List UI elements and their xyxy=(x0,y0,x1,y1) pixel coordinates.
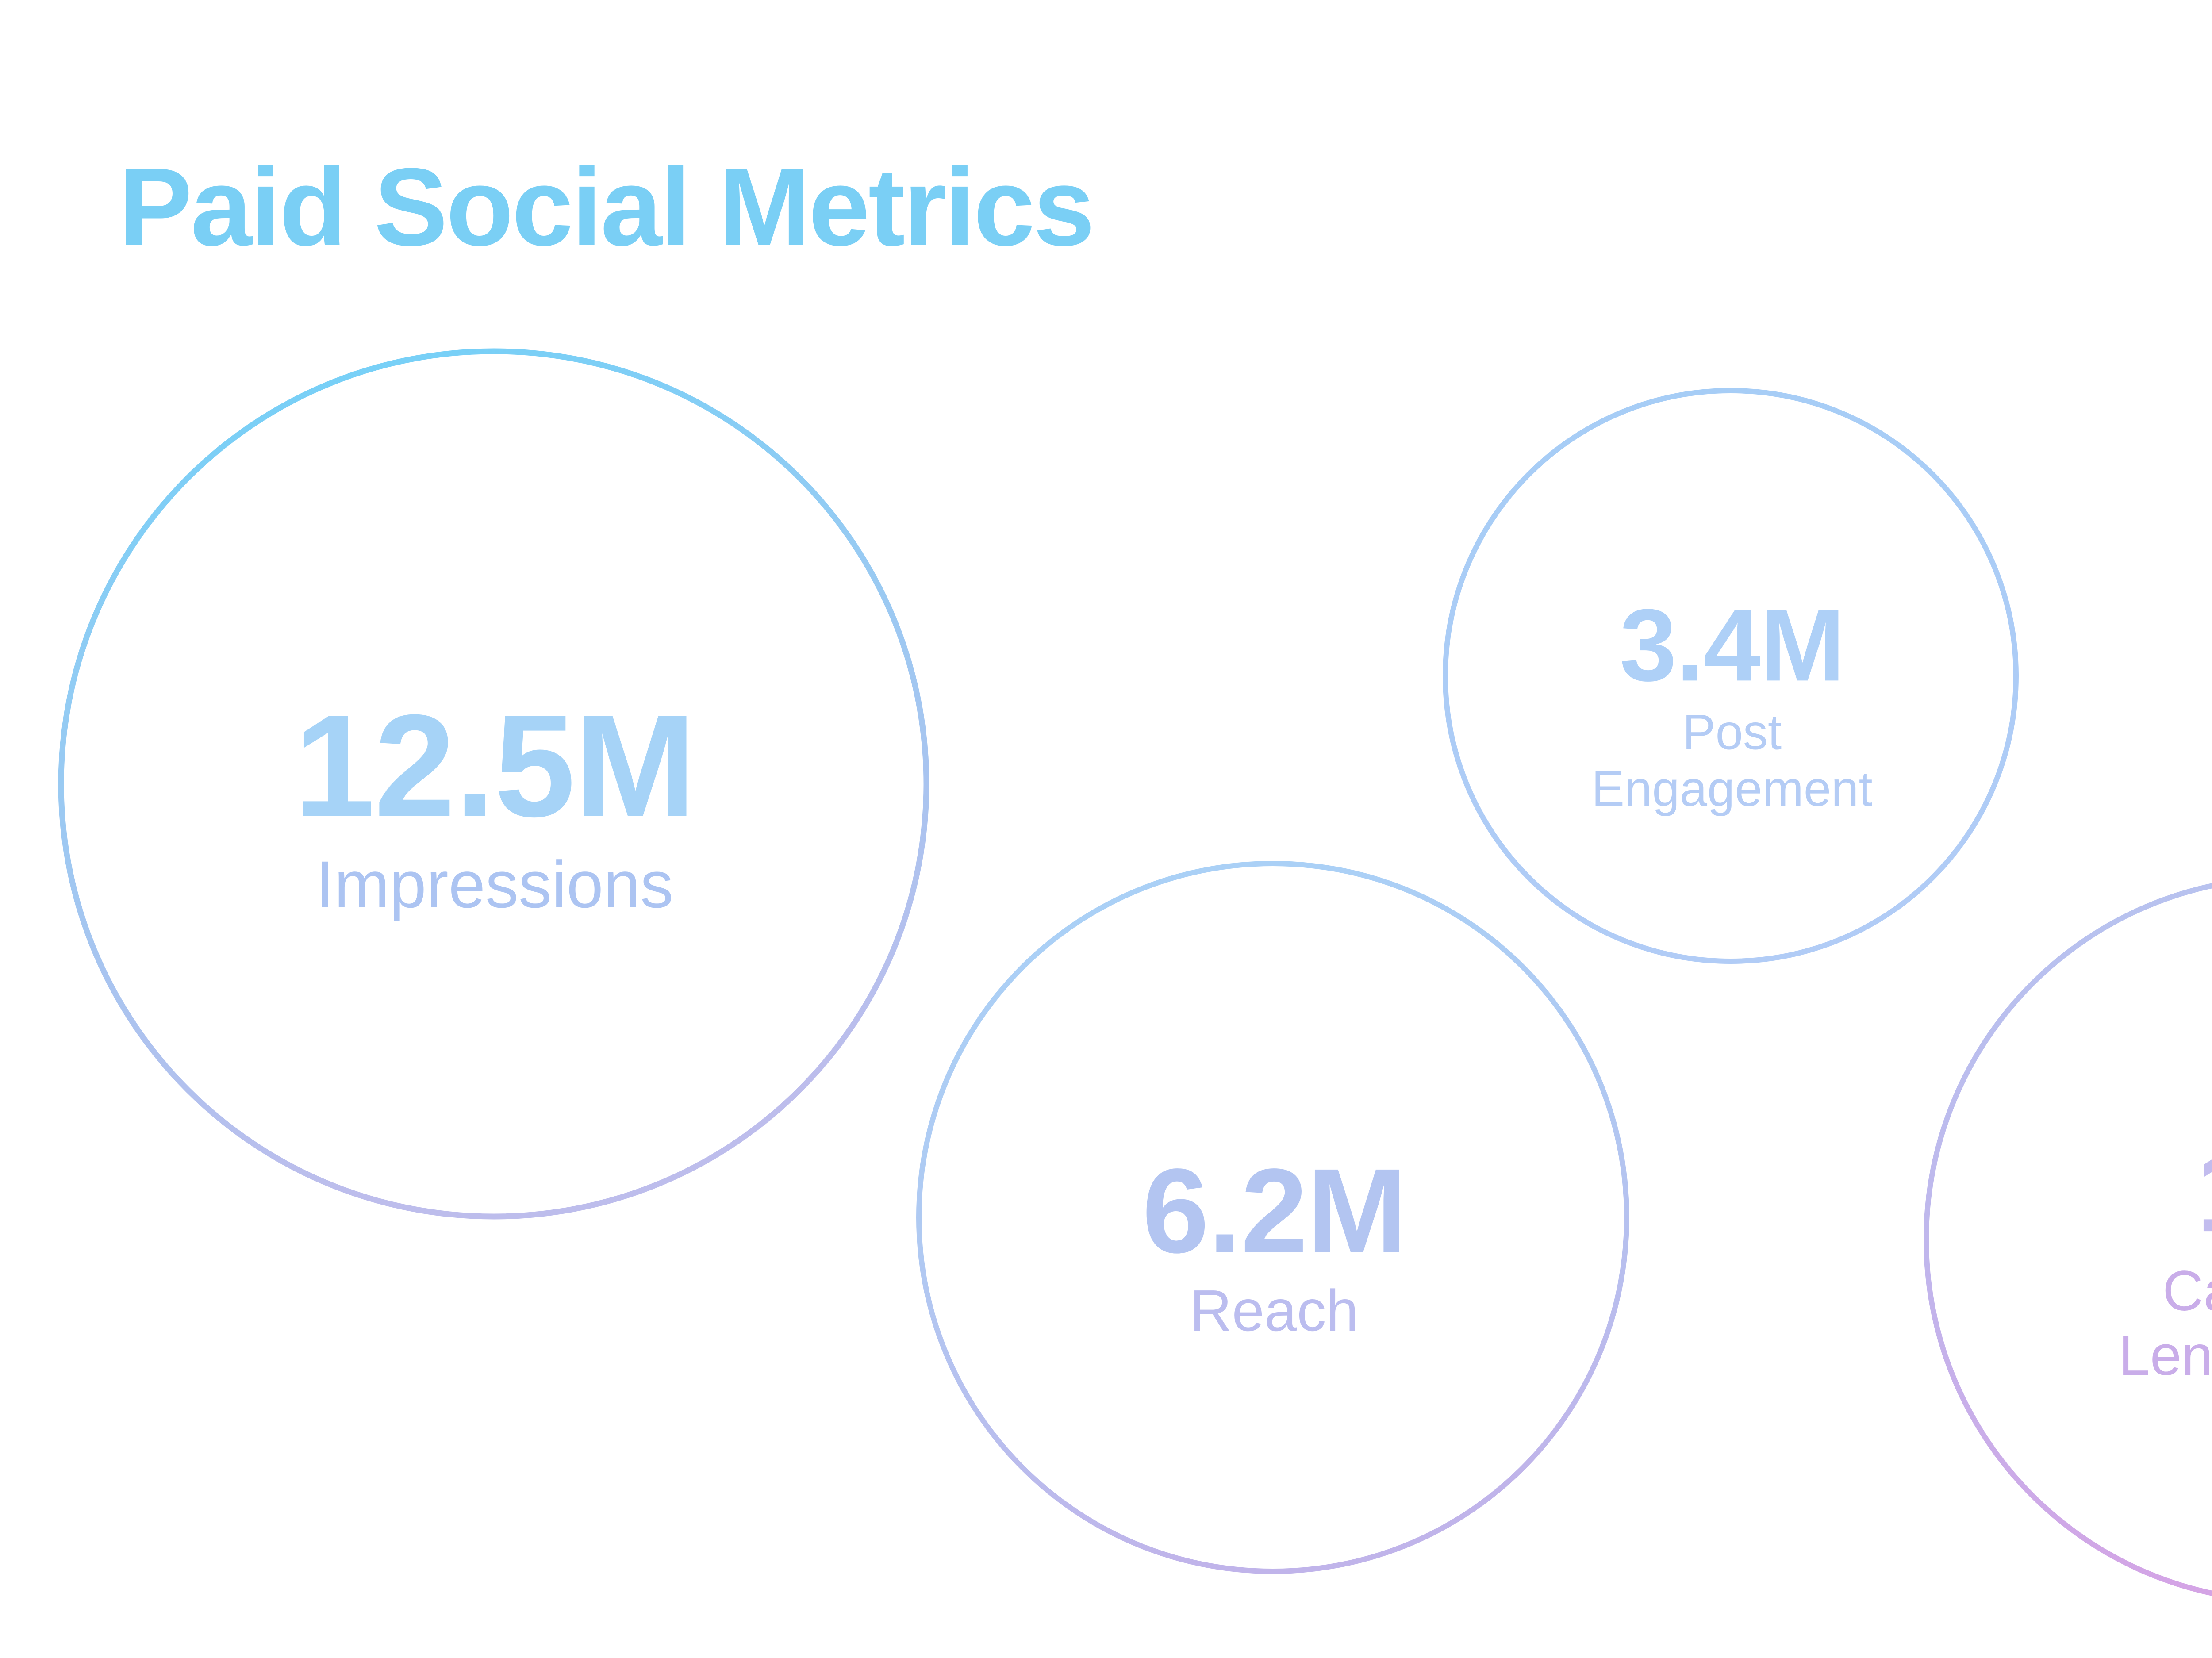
bubble-label-campaign-length-line2: Length (days) xyxy=(2119,1324,2212,1388)
bubble-value-campaign-length: 184 xyxy=(2119,1133,2212,1249)
bubble-label-reach: Reach xyxy=(1142,1282,1406,1340)
bubble-label-impressions: Impressions xyxy=(294,851,695,917)
bubble-chart: 12.5M Impressions 3.4M Post Engagement 6… xyxy=(0,0,2212,1658)
bubble-campaign-length[interactable]: 184 Campaign Length (days) xyxy=(2119,1133,2212,1388)
bubble-value-post-engagement: 3.4M xyxy=(1591,594,1872,697)
bubble-value-reach: 6.2M xyxy=(1142,1151,1406,1271)
bubble-value-impressions: 12.5M xyxy=(294,693,695,839)
bubble-post-engagement[interactable]: 3.4M Post Engagement xyxy=(1591,594,1872,817)
bubble-label-post-engagement-line1: Post xyxy=(1591,704,1872,760)
bubble-label-campaign-length-line1: Campaign xyxy=(2119,1259,2212,1324)
infographic-canvas: Paid Social Metrics xyxy=(0,0,2212,1658)
bubble-label-post-engagement-line2: Engagement xyxy=(1591,760,1872,817)
bubble-impressions[interactable]: 12.5M Impressions xyxy=(294,693,695,917)
bubble-reach[interactable]: 6.2M Reach xyxy=(1142,1151,1406,1340)
